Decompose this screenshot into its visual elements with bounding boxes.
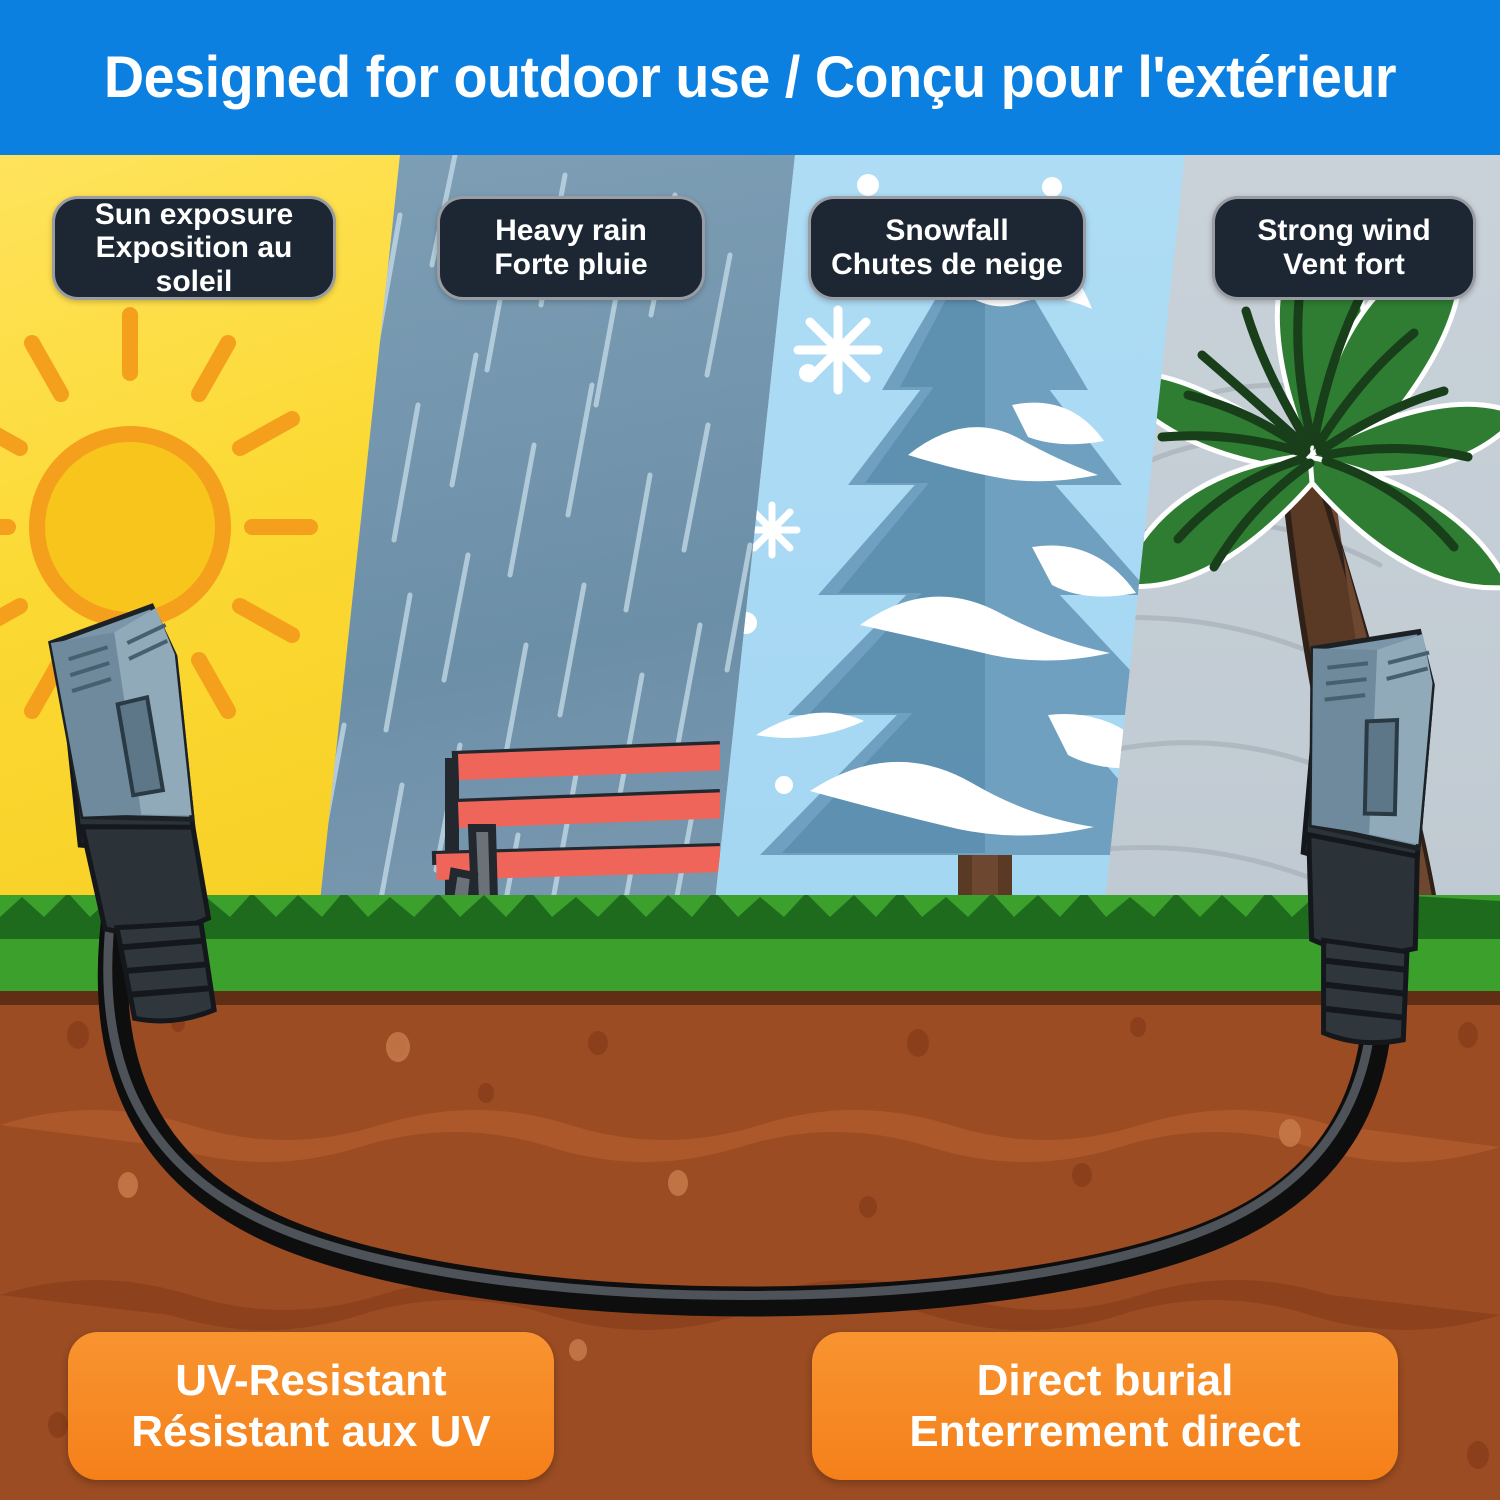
badge-rain-label-en: Heavy rain xyxy=(495,214,647,248)
badge-snow-label-fr: Chutes de neige xyxy=(831,248,1063,282)
badge-rain-label-fr: Forte pluie xyxy=(494,248,647,282)
feature-burial-label-en: Direct burial xyxy=(977,1355,1234,1406)
feature-uv-label-en: UV-Resistant xyxy=(175,1355,446,1406)
badge-sun-label-en: Sun exposure xyxy=(95,198,293,232)
badge-snow-label-en: Snowfall xyxy=(885,214,1008,248)
feature-badge-uv-resistant: UV-Resistant Résistant aux UV xyxy=(68,1332,554,1480)
page-title: Designed for outdoor use / Conçu pour l'… xyxy=(104,44,1396,111)
badge-sun-label-fr: Exposition au soleil xyxy=(55,231,333,298)
badge-snowfall: Snowfall Chutes de neige xyxy=(808,196,1086,300)
badge-wind-label-fr: Vent fort xyxy=(1283,248,1405,282)
feature-uv-label-fr: Résistant aux UV xyxy=(131,1406,490,1457)
outdoor-cable-infographic: Designed for outdoor use / Conçu pour l'… xyxy=(0,0,1500,1500)
feature-badge-direct-burial: Direct burial Enterrement direct xyxy=(812,1332,1398,1480)
badge-sun-exposure: Sun exposure Exposition au soleil xyxy=(52,196,336,300)
feature-burial-label-fr: Enterrement direct xyxy=(909,1406,1300,1457)
badge-strong-wind: Strong wind Vent fort xyxy=(1212,196,1476,300)
header-banner: Designed for outdoor use / Conçu pour l'… xyxy=(0,0,1500,155)
badge-wind-label-en: Strong wind xyxy=(1257,214,1430,248)
badge-heavy-rain: Heavy rain Forte pluie xyxy=(437,196,705,300)
sun-icon xyxy=(0,295,380,755)
